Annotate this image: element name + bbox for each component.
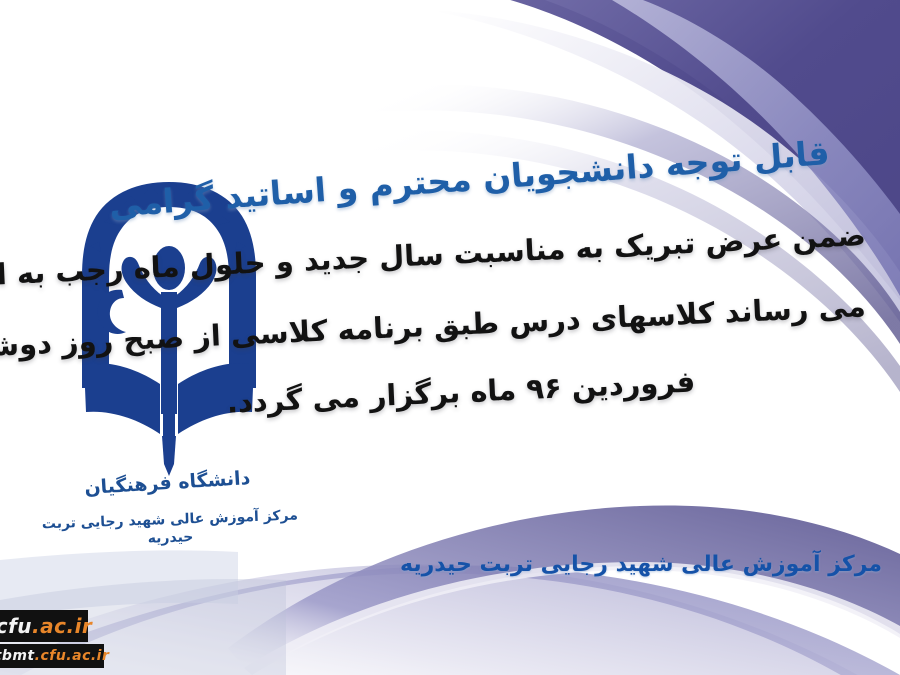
tbmt-badge-prefix: tbmt xyxy=(0,648,35,664)
logo-caption: دانشگاه فرهنگیان مرکز آموزش عالی شهید رج… xyxy=(32,464,306,555)
body-line-3: فروردین ۹۶ ماه برگزار می گردد. xyxy=(206,366,717,418)
cfu-badge-prefix: cfu xyxy=(0,614,32,638)
cfu-site-badge[interactable]: cfu.ac.ir xyxy=(0,610,88,642)
issuer-signature: مرکز آموزش عالی شهید رجایی تربت حیدریه xyxy=(402,552,882,577)
body-line-1: ضمن عرض تبریک به مناسبت سال جدید و حلول … xyxy=(206,221,867,280)
tbmt-site-badge[interactable]: tbmt.cfu.ac.ir xyxy=(0,644,104,668)
announcement-poster: دانشگاه فرهنگیان مرکز آموزش عالی شهید رج… xyxy=(0,0,900,675)
page-title: قابل توجه دانشجویان محترم و اساتید گرامی xyxy=(309,133,830,210)
ribbon-bottom-highlight xyxy=(244,562,900,675)
logo-caption-sub: مرکز آموزش عالی شهید رجایی تربت حیدریه xyxy=(35,507,306,551)
ribbon-bottom-mid xyxy=(0,565,900,675)
ribbon-bottom-pale xyxy=(0,564,900,675)
cfu-badge-suffix: .ac.ir xyxy=(32,614,92,638)
ribbon-bottom-dark xyxy=(228,505,900,675)
announcement-body: ضمن عرض تبریک به مناسبت سال جدید و حلول … xyxy=(206,236,866,449)
tbmt-badge-suffix: .cfu.ac.ir xyxy=(35,648,110,664)
body-line-2: می رساند کلاسهای درس طبق برنامه کلاسی از… xyxy=(206,292,867,351)
